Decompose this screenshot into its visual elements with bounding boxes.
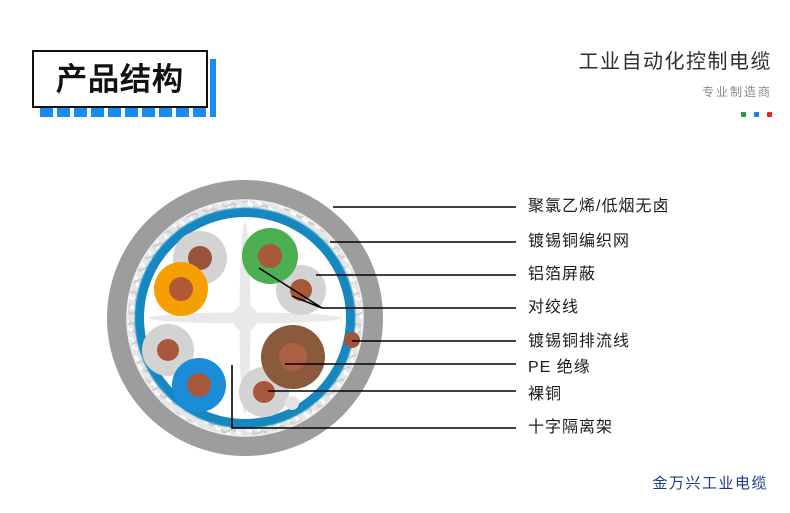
cable-cross-section-diagram xyxy=(0,0,790,513)
label-bare-copper: 裸铜 xyxy=(528,387,562,403)
label-foil: 铝箔屏蔽 xyxy=(528,267,596,283)
filler-dot xyxy=(285,396,299,410)
drain-wire xyxy=(344,332,360,348)
bare-copper-conductor xyxy=(258,244,282,268)
label-jacket: 聚氯乙烯/低烟无卤 xyxy=(528,199,669,215)
label-cross: 十字隔离架 xyxy=(528,420,613,436)
bare-copper-conductor xyxy=(157,339,179,361)
bare-copper-conductor xyxy=(169,277,193,301)
bare-copper-conductor xyxy=(279,343,307,371)
brand-footer: 金万兴工业电缆 xyxy=(652,472,768,493)
bare-copper-conductor xyxy=(253,381,275,403)
bare-copper-conductor xyxy=(187,373,211,397)
label-drain: 镀锡铜排流线 xyxy=(528,334,630,350)
label-braid: 镀锡铜编织网 xyxy=(528,234,630,250)
page-root: 产品结构 工业自动化控制电缆 专业制造商 xyxy=(0,0,790,513)
label-pe: PE 绝缘 xyxy=(528,360,591,376)
label-pair: 对绞线 xyxy=(528,300,579,316)
